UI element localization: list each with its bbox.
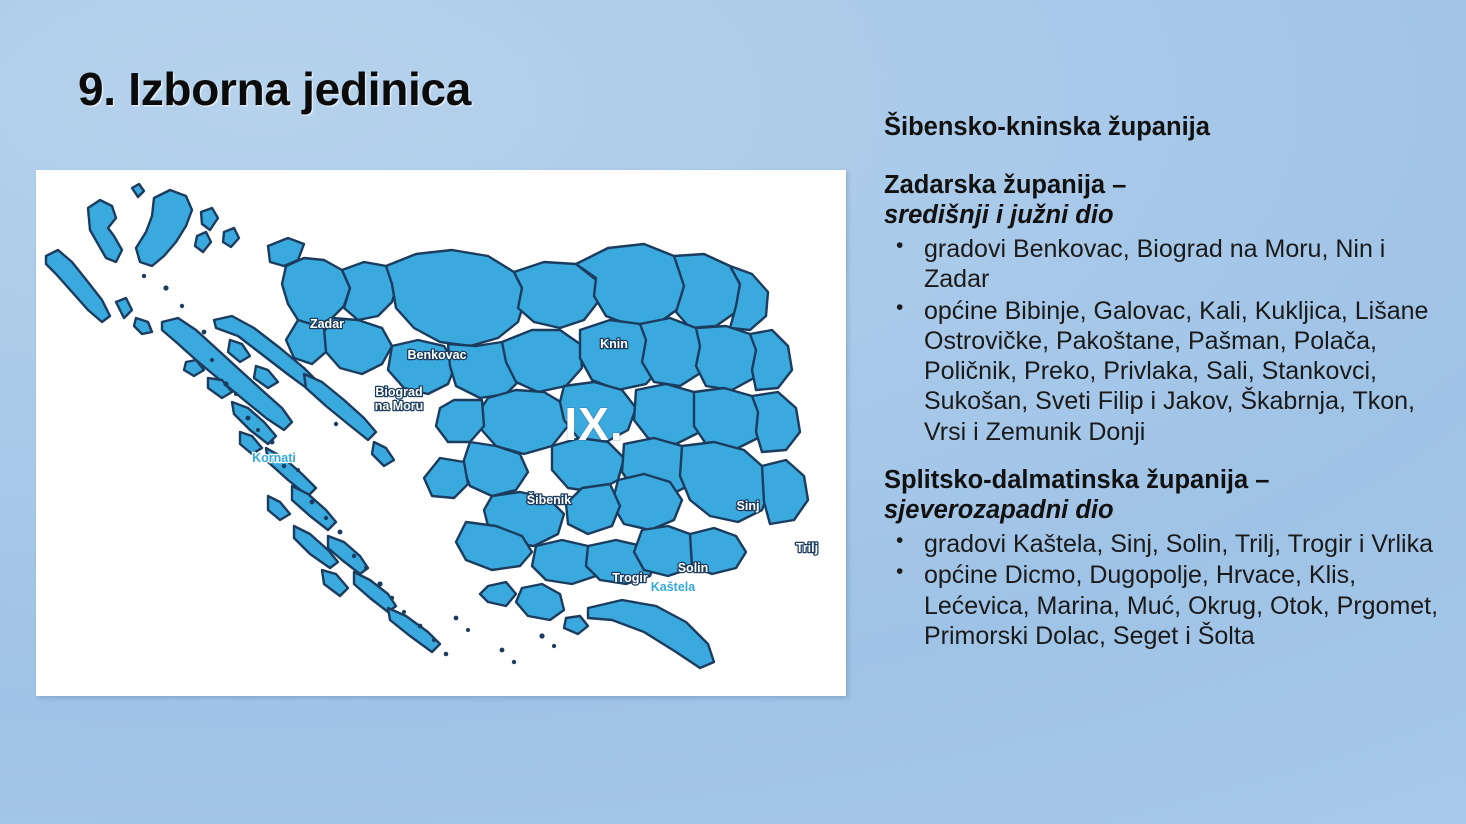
map-label-na-moru: na Moru — [375, 399, 424, 413]
island-small-south — [564, 616, 588, 634]
text-panel: Šibensko-kninska županija Zadarska župan… — [884, 112, 1440, 653]
map-panel: IX. ZadarBenkovacKninBiogradna MoruKorna… — [36, 170, 846, 696]
island-pag-main — [136, 190, 192, 266]
island-zirje — [388, 608, 440, 652]
municipality-list: gradovi Benkovac, Biograd na Moru, Nin i… — [884, 234, 1440, 447]
island-murter — [322, 570, 348, 596]
island-strip-1 — [201, 208, 218, 230]
map-label-biograd: Biograd — [375, 385, 422, 399]
croatia-district-map: IX. ZadarBenkovacKninBiogradna MoruKorna… — [36, 170, 846, 696]
section-sibensko-kninska: Šibensko-kninska županija — [884, 112, 1440, 142]
island-thin-a — [116, 298, 132, 318]
section-heading: Šibensko-kninska županija — [884, 112, 1440, 142]
map-label-sinj: Sinj — [737, 499, 760, 513]
region-klis — [566, 484, 620, 534]
island-vrgada — [372, 442, 394, 466]
spacer — [884, 144, 1440, 170]
list-item: općine Bibinje, Galovac, Kali, Kukljica,… — [884, 296, 1440, 447]
island-strip-2 — [195, 232, 211, 252]
map-label-zadar: Zadar — [310, 317, 344, 331]
region-east-border-1 — [750, 330, 792, 390]
map-label-benkovac: Benkovac — [407, 348, 466, 362]
list-item: gradovi Kaštela, Sinj, Solin, Trilj, Tro… — [884, 529, 1440, 559]
map-label-solin: Solin — [678, 561, 709, 575]
island-kornati-3 — [292, 486, 336, 530]
section-zadarska: Zadarska županija – središnji i južni di… — [884, 170, 1440, 447]
region-trilj-east — [762, 460, 808, 524]
island-dugi-otok-far — [46, 250, 110, 322]
section-heading: Splitsko-dalmatinska županija – — [884, 465, 1440, 495]
section-subheading: sjeverozapadni dio — [884, 495, 1440, 525]
page-title: 9. Izborna jedinica — [78, 62, 471, 116]
island-kornati-7 — [354, 572, 396, 612]
map-label-knin: Knin — [600, 337, 628, 351]
region-zadar-city — [282, 258, 350, 326]
island-thin-b — [134, 318, 152, 334]
section-subheading: središnji i južni dio — [884, 200, 1440, 230]
municipality-list: gradovi Kaštela, Sinj, Solin, Trilj, Tro… — [884, 529, 1440, 651]
island-pag-north — [88, 200, 122, 262]
island-kornati-6 — [328, 536, 368, 574]
section-splitsko-dalmatinska: Splitsko-dalmatinska županija – sjeveroz… — [884, 465, 1440, 651]
region-sibenik-coast — [436, 400, 484, 442]
spacer — [884, 449, 1440, 465]
list-item: gradovi Benkovac, Biograd na Moru, Nin i… — [884, 234, 1440, 295]
island-drvenik-veli — [516, 584, 564, 620]
district-number-label: IX. — [564, 398, 623, 450]
map-label-kornati: Kornati — [252, 451, 296, 465]
island-kornati-4 — [268, 496, 290, 520]
island-small-1 — [132, 184, 144, 197]
list-item: općine Dicmo, Dugopolje, Hrvace, Klis, L… — [884, 560, 1440, 651]
island-vir — [223, 228, 239, 247]
island-solta — [588, 600, 714, 668]
section-heading: Zadarska županija – — [884, 170, 1440, 200]
map-label-trogir: Trogir — [612, 571, 648, 585]
region-benkovac — [386, 250, 526, 346]
map-label-trilj: Trilj — [796, 541, 818, 555]
map-label-sibenik: Šibenik — [527, 492, 572, 507]
region-east-border-2 — [752, 392, 800, 452]
region-dugopolje — [612, 474, 682, 530]
island-pasman — [304, 374, 376, 440]
island-drvenik-mali — [480, 582, 516, 606]
region-rogoznica — [424, 458, 468, 498]
map-label-kastela: Kaštela — [651, 580, 697, 594]
